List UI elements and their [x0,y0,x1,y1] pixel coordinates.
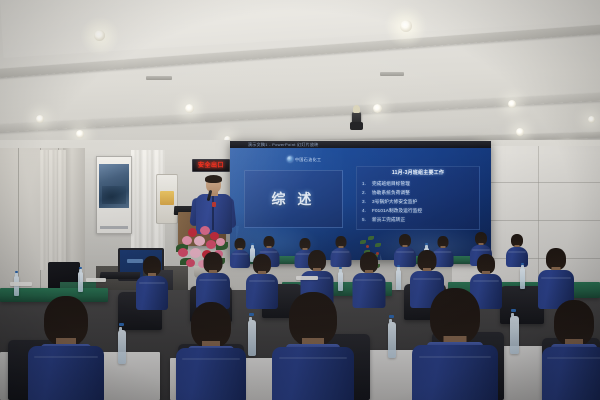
audience-person [272,292,354,400]
ac-label [160,191,174,205]
audience-person [352,252,385,307]
water-bottle [248,320,256,356]
slide-title: 综 述 [272,191,316,207]
audience-person [412,288,498,400]
water-bottle [510,316,519,354]
downlight-icon [400,20,412,32]
slide-content-heading: 11月-3月班组主要工作 [361,170,475,177]
downlight-icon [516,128,524,136]
downlight-icon [94,30,105,41]
ceiling-camera-icon [352,112,361,127]
slide-content-panel: 11月-3月班组主要工作 完成班组目标管理 协助系统负荷调整 3号锅炉大修安全监… [356,166,480,230]
water-bottle [388,322,396,358]
audience-person [542,300,600,400]
audience-person [176,302,246,400]
slide-bullet-list: 完成班组目标管理 协助系统负荷调整 3号锅炉大修安全监护 F0101A制改及运行… [361,179,475,224]
audience-person [28,296,104,400]
window-curtain [40,150,66,270]
logo-mark-icon [287,156,293,162]
poster-image [99,164,129,208]
water-bottle [118,330,126,364]
list-item: 3号锅炉大修安全监护 [372,197,475,206]
water-bottle [78,272,83,292]
audience-person [538,248,574,308]
conference-room-photo: 安全出口 演示文稿1 - PowerPoint 幻灯片放映 中国石油化工 综 述… [0,0,600,400]
downlight-icon [373,104,382,113]
water-bottle [396,270,401,290]
uniform-badge [212,202,216,207]
audience-person [330,236,351,266]
list-item: 新员工完成转正 [372,215,475,224]
downlight-icon [588,116,595,123]
poster-caption [100,226,128,229]
audience-person [506,234,528,266]
list-item: 完成班组目标管理 [372,179,475,188]
exit-sign-text: 安全出口 [198,163,224,169]
water-bottle [520,268,525,289]
logo-text: 中国石油化工 [295,157,321,162]
downlight-icon [36,115,44,123]
list-item: 协助系统负荷调整 [372,188,475,197]
audience-person [136,256,168,308]
water-bottle [14,276,19,296]
presenter-hair [205,175,222,183]
slide-title-panel: 综 述 [244,170,343,228]
ceiling [0,0,600,152]
downlight-icon [508,100,516,108]
wall-poster [96,156,132,234]
company-logo: 中国石油化工 [287,156,321,162]
exit-sign: 安全出口 [192,159,230,172]
document-paper [296,276,318,280]
audience-person [196,252,230,308]
document-paper [86,278,106,282]
ppt-toolbar: 演示文稿1 - PowerPoint 幻灯片放映 [230,141,491,148]
downlight-icon [185,104,194,113]
ceiling-vent [380,72,404,76]
list-item: F0101A制改及运行监控 [372,206,475,215]
ceiling-beam [0,90,600,135]
ppt-toolbar-text: 演示文稿1 - PowerPoint 幻灯片放映 [248,142,319,147]
air-conditioner [156,174,178,224]
water-bottle [338,272,343,291]
ceiling-vent [146,76,172,80]
document-paper [10,282,32,286]
downlight-icon [76,130,84,138]
